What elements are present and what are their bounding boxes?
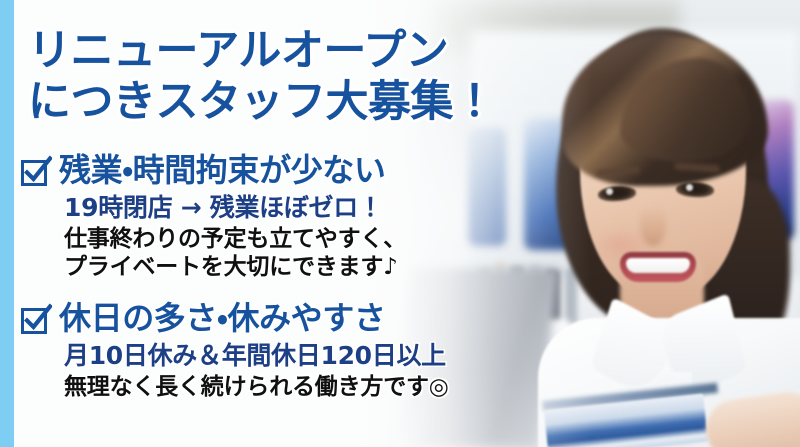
benefit-block-overtime: 残業・時間拘束が少ない 19時閉店 → 残業ほぼゼロ！ 仕事終わりの予定も立てや…: [20, 152, 406, 281]
checkbox-checked-icon: [20, 155, 52, 187]
benefit-title: 残業・時間拘束が少ない: [59, 152, 385, 188]
checkbox-checked-icon: [20, 303, 52, 335]
benefit-body: 仕事終わりの予定も立てやすく、 プライベートを大切にできます♪: [64, 225, 406, 281]
benefit-body-line-1: 無理なく長く続けられる働き方です◎: [64, 373, 449, 401]
benefit-body-line-2: プライベートを大切にできます♪: [64, 253, 406, 281]
headline-line-2: につきスタッフ大募集！: [28, 77, 496, 128]
benefit-heading-row: 休日の多さ・休みやすさ: [20, 300, 449, 336]
benefit-body: 無理なく長く続けられる働き方です◎: [64, 373, 449, 401]
benefit-heading-row: 残業・時間拘束が少ない: [20, 152, 406, 188]
benefit-subtitle: 19時閉店 → 残業ほぼゼロ！: [64, 193, 406, 222]
poster-headline: リニューアルオープン につきスタッフ大募集！: [28, 26, 496, 128]
headline-line-1: リニューアルオープン: [28, 26, 496, 77]
benefit-title: 休日の多さ・休みやすさ: [59, 300, 385, 336]
benefit-block-holidays: 休日の多さ・休みやすさ 月10日休み＆年間休日120日以上 無理なく長く続けられ…: [20, 300, 449, 401]
benefit-subtitle: 月10日休み＆年間休日120日以上: [64, 341, 449, 370]
poster-content: リニューアルオープン につきスタッフ大募集！ 残業・時間拘束が少ない 19時閉店…: [0, 0, 800, 447]
recruitment-poster: リニューアルオープン につきスタッフ大募集！ 残業・時間拘束が少ない 19時閉店…: [0, 0, 800, 447]
benefit-body-line-1: 仕事終わりの予定も立てやすく、: [64, 225, 406, 253]
